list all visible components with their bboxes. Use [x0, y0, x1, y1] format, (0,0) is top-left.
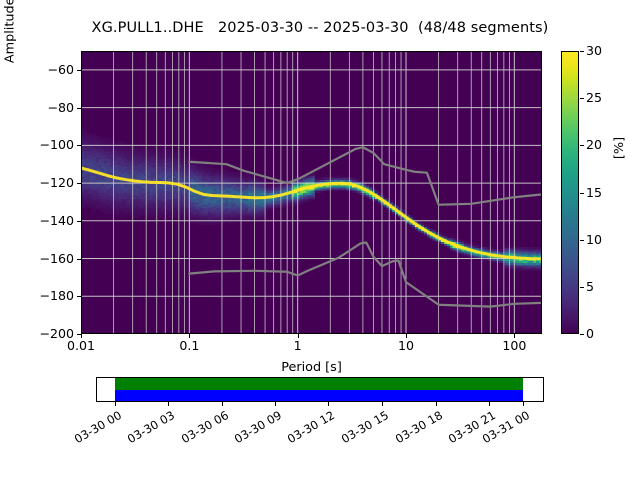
- x-tick-label: 10: [372, 338, 440, 353]
- y-tick-mark: [77, 296, 81, 297]
- x-tick-label: 0.01: [47, 338, 115, 353]
- colorbar-tick-label: 15: [586, 185, 602, 200]
- timeline-tick-mark: [523, 402, 524, 406]
- colorbar-tick-mark: [580, 145, 584, 146]
- colorbar-label: [%]: [612, 128, 627, 168]
- colorbar-tick-label: 20: [586, 137, 602, 152]
- x-tick-label: 1: [264, 338, 332, 353]
- y-tick-label: −60: [0, 62, 74, 77]
- timeline-tick-mark: [115, 402, 116, 406]
- colorbar-tick-mark: [580, 98, 584, 99]
- y-tick-label: −80: [0, 100, 74, 115]
- y-tick-label: −160: [0, 251, 74, 266]
- ppsd-figure: XG.PULL1..DHE 2025-03-30 -- 2025-03-30 (…: [0, 0, 640, 480]
- colorbar-tick-mark: [580, 51, 584, 52]
- timeline-tick-mark: [436, 402, 437, 406]
- y-tick-label: −100: [0, 137, 74, 152]
- y-tick-mark: [77, 108, 81, 109]
- colorbar-tick-label: 0: [586, 326, 594, 341]
- psd-coverage-band: [115, 390, 523, 402]
- timeline-tick-mark: [382, 402, 383, 406]
- x-tick-label: 100: [480, 338, 548, 353]
- colorbar-tick-mark: [580, 287, 584, 288]
- y-tick-mark: [77, 145, 81, 146]
- y-tick-label: −140: [0, 213, 74, 228]
- colorbar-tick-mark: [580, 240, 584, 241]
- colorbar-tick-mark: [580, 334, 584, 335]
- timeline-tick-mark: [222, 402, 223, 406]
- y-tick-mark: [77, 221, 81, 222]
- timeline-tick-mark: [489, 402, 490, 406]
- timeline-tick-mark: [275, 402, 276, 406]
- colorbar: [561, 51, 579, 334]
- timeline-tick-mark: [328, 402, 329, 406]
- timeline-tick-mark: [168, 402, 169, 406]
- colorbar-tick-label: 5: [586, 279, 594, 294]
- page-title: XG.PULL1..DHE 2025-03-30 -- 2025-03-30 (…: [0, 20, 640, 36]
- ppsd-canvas: [81, 51, 542, 334]
- y-tick-mark: [77, 259, 81, 260]
- timeline-axes[interactable]: [96, 377, 544, 402]
- y-tick-mark: [77, 70, 81, 71]
- ppsd-plot-area[interactable]: [81, 51, 542, 334]
- y-tick-label: −180: [0, 288, 74, 303]
- density-bin: [193, 159, 196, 161]
- y-tick-label: −120: [0, 175, 74, 190]
- density-bin: [389, 200, 392, 202]
- colorbar-tick-label: 30: [586, 43, 602, 58]
- x-tick-label: 0.1: [155, 338, 223, 353]
- y-tick-mark: [77, 183, 81, 184]
- x-axis-label: Period [s]: [81, 360, 542, 375]
- colorbar-tick-mark: [580, 193, 584, 194]
- colorbar-tick-label: 25: [586, 90, 602, 105]
- colorbar-tick-label: 10: [586, 232, 602, 247]
- data-coverage-band: [115, 378, 523, 390]
